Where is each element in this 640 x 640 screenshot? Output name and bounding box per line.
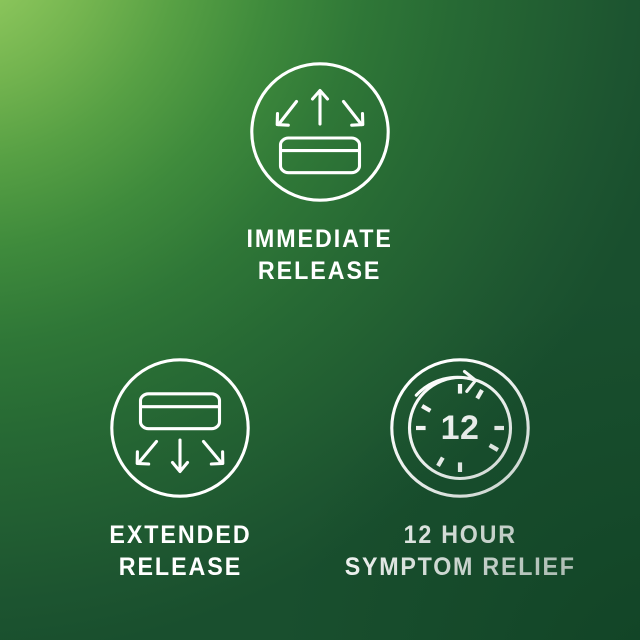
- tablet-arrows-down-icon: [110, 358, 250, 498]
- caption-line-2: RELEASE: [109, 551, 251, 583]
- product-benefits-infographic: IMMEDIATE RELEASE: [0, 0, 640, 640]
- icon-outline-circle: [252, 64, 388, 200]
- symptom-relief-caption: 12 HOUR SYMPTOM RELIEF: [344, 519, 575, 583]
- immediate-release-caption: IMMEDIATE RELEASE: [247, 223, 393, 287]
- extended-release-icon-circle: [110, 358, 250, 498]
- extended-release-caption: EXTENDED RELEASE: [109, 519, 251, 583]
- caption-line-2: SYMPTOM RELIEF: [344, 551, 575, 583]
- tablet-body: [281, 138, 360, 173]
- tablet-body: [141, 394, 220, 429]
- tablet-arrows-up-icon: [250, 62, 390, 202]
- caption-line-1: EXTENDED: [109, 519, 251, 551]
- clockwise-arrow-head: [465, 372, 476, 392]
- caption-line-2: RELEASE: [247, 255, 393, 287]
- caption-line-1: 12 HOUR: [344, 519, 575, 551]
- caption-line-1: IMMEDIATE: [247, 223, 393, 255]
- symptom-relief-icon-circle: 12: [390, 358, 530, 498]
- feature-symptom-relief: 12 12 HOUR SYMPTOM RELIEF: [310, 358, 610, 583]
- feature-extended-release: EXTENDED RELEASE: [30, 358, 330, 583]
- immediate-release-icon-circle: [250, 62, 390, 202]
- feature-immediate-release: IMMEDIATE RELEASE: [160, 62, 480, 287]
- clock-hour-value: 12: [441, 409, 480, 447]
- clock-12-hour-icon: 12: [390, 358, 530, 498]
